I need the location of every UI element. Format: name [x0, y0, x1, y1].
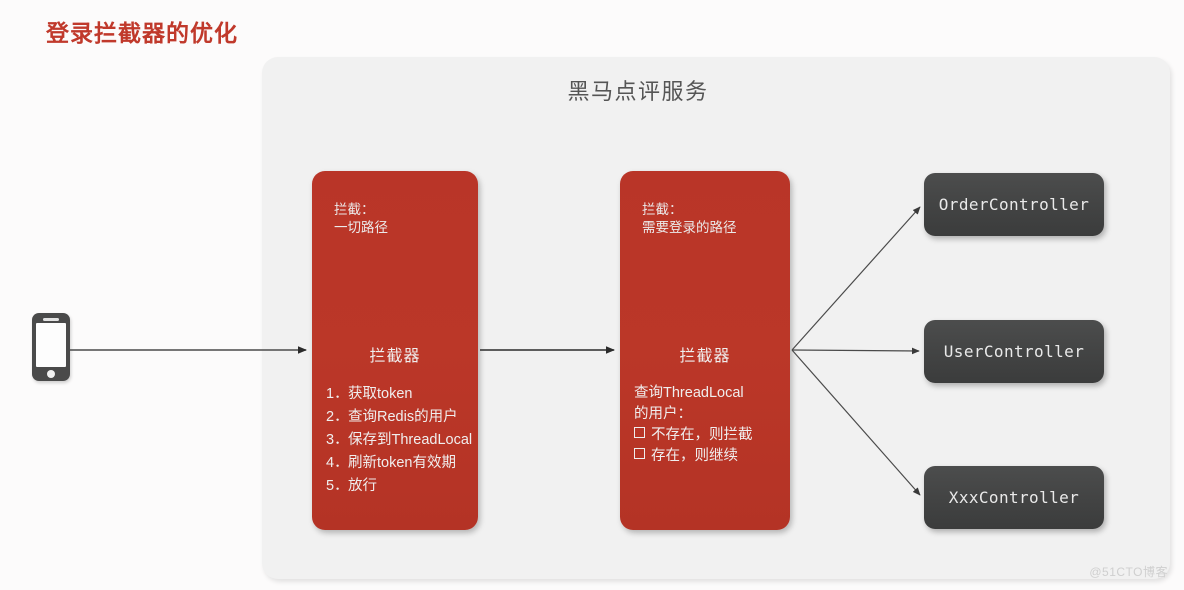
step-number: 5． — [326, 475, 348, 498]
step-text: 查询Redis的用户 — [348, 409, 458, 425]
watermark: @51CTO博客 — [1089, 563, 1168, 580]
step-number: 2． — [326, 406, 348, 429]
phone-screen — [36, 323, 66, 367]
list-item: 3．保存到ThreadLocal — [326, 429, 472, 452]
step-number: 1． — [326, 383, 348, 406]
xxx-controller-box: XxxController — [924, 466, 1104, 529]
service-panel-title-text: 黑马点评服务 — [567, 79, 708, 104]
step-text: 刷新token有效期 — [348, 455, 456, 471]
phone-home-button-icon — [47, 370, 55, 378]
list-item: 不存在，则拦截 — [634, 425, 753, 446]
list-item: 2．查询Redis的用户 — [326, 406, 472, 429]
order-controller-label: OrderController — [939, 195, 1090, 214]
step-number: 4． — [326, 452, 348, 475]
service-panel-title: 黑马点评服务 — [262, 74, 1170, 106]
interceptor-box-1: 拦截： 一切路径 拦截器 1．获取token 2．查询Redis的用户 3．保存… — [312, 171, 478, 530]
check-text: 不存在，则拦截 — [651, 427, 753, 443]
smartphone-icon — [32, 313, 70, 381]
interceptor-1-header: 拦截： 一切路径 — [334, 201, 388, 237]
list-item: 1．获取token — [326, 383, 472, 406]
step-text: 保存到ThreadLocal — [348, 432, 472, 448]
interceptor-box-2: 拦截： 需要登录的路径 拦截器 查询ThreadLocal 的用户： 不存在，则… — [620, 171, 790, 530]
phone-speaker-icon — [43, 318, 59, 321]
note-line-2: 的用户： — [634, 404, 753, 425]
checkbox-icon — [634, 448, 645, 459]
diagram-canvas: 登录拦截器的优化 黑马点评服务 拦截： 一切路径 拦截器 1．获取token 2… — [0, 0, 1184, 590]
note-line-1: 查询ThreadLocal — [634, 383, 753, 404]
step-text: 放行 — [348, 478, 377, 494]
list-item: 5．放行 — [326, 475, 472, 498]
user-controller-box: UserController — [924, 320, 1104, 383]
check-text: 存在，则继续 — [651, 448, 738, 464]
interceptor-2-name: 拦截器 — [620, 342, 790, 366]
interceptor-2-note: 查询ThreadLocal 的用户： 不存在，则拦截 存在，则继续 — [634, 383, 753, 467]
interceptor-1-name: 拦截器 — [312, 342, 478, 366]
interceptor-2-header: 拦截： 需要登录的路径 — [642, 201, 737, 237]
user-controller-label: UserController — [944, 342, 1084, 361]
xxx-controller-label: XxxController — [949, 488, 1079, 507]
step-number: 3． — [326, 429, 348, 452]
order-controller-box: OrderController — [924, 173, 1104, 236]
step-text: 获取token — [348, 386, 412, 402]
interceptor-1-steps: 1．获取token 2．查询Redis的用户 3．保存到ThreadLocal … — [326, 383, 472, 498]
list-item: 存在，则继续 — [634, 446, 753, 467]
list-item: 4．刷新token有效期 — [326, 452, 472, 475]
checkbox-icon — [634, 427, 645, 438]
page-title: 登录拦截器的优化 — [46, 14, 238, 48]
